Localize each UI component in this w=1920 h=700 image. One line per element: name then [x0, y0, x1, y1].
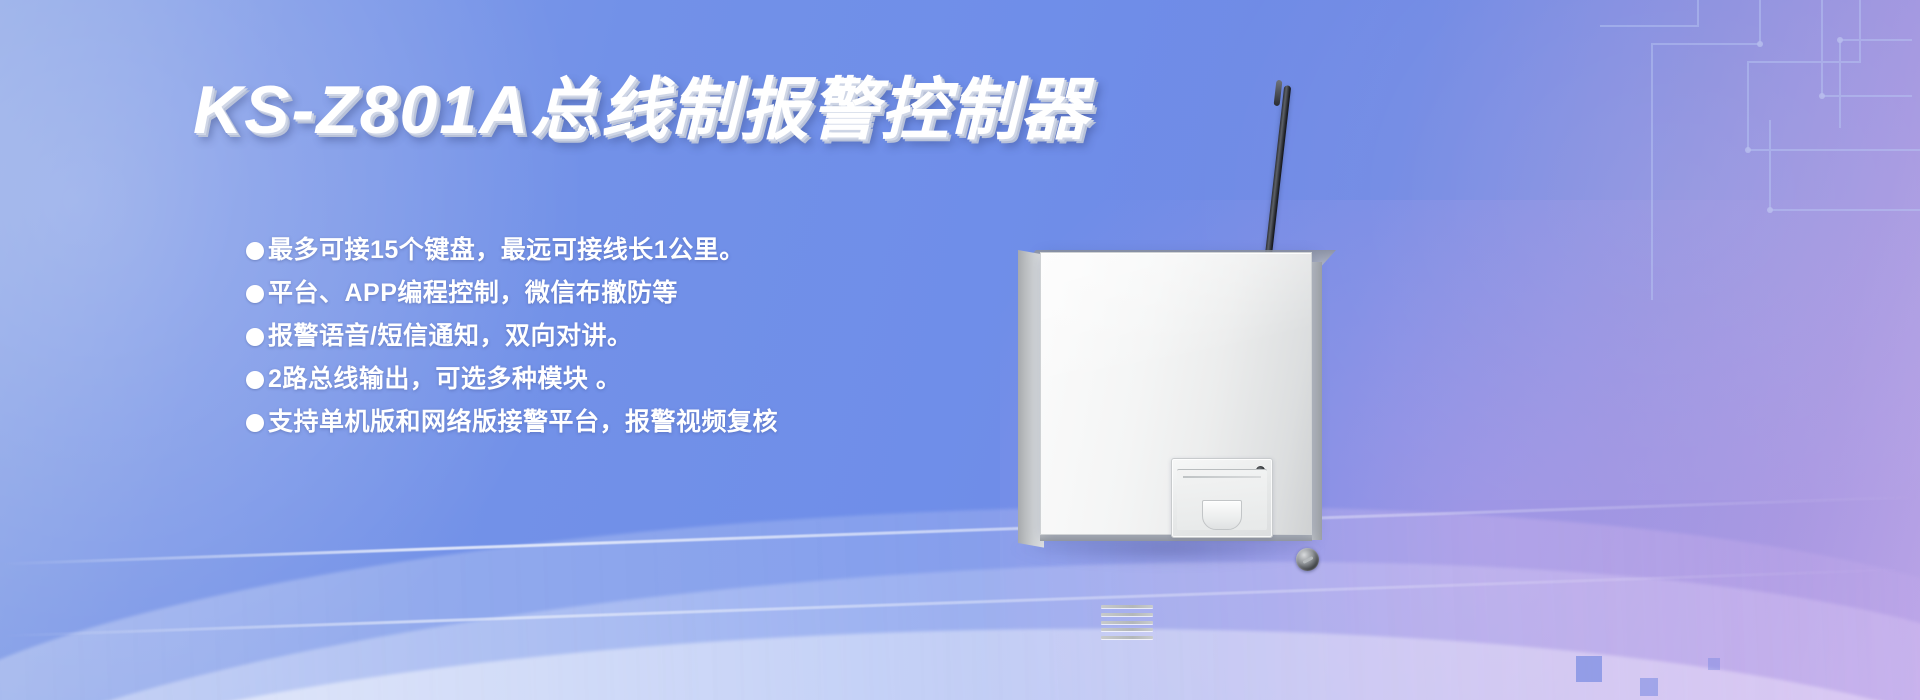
bullet-dot-icon	[246, 242, 264, 260]
bottom-thin-line-1	[1, 495, 1920, 565]
bottom-thin-line-2	[1, 567, 1920, 637]
bullet-dot-icon	[246, 328, 264, 346]
feature-text: 支持单机版和网络版接警平台，报警视频复核	[268, 410, 778, 435]
key-lock-icon	[1296, 548, 1319, 571]
vent-line	[1101, 605, 1153, 608]
list-item: 支持单机版和网络版接警平台，报警视频复核	[246, 410, 1066, 435]
decor-square-2	[1640, 678, 1658, 696]
bullet-dot-icon	[246, 414, 264, 432]
feature-text: 平台、APP编程控制，微信布撤防等	[268, 281, 678, 306]
ventilation-slots	[1101, 605, 1153, 639]
vent-line	[1101, 621, 1153, 624]
enclosure-front-panel	[1040, 252, 1312, 535]
module-inner-panel	[1177, 469, 1267, 530]
feature-list: 最多可接15个键盘，最远可接线长1公里。 平台、APP编程控制，微信布撤防等 报…	[246, 238, 1066, 435]
decor-square-3	[1708, 658, 1720, 670]
bullet-dot-icon	[246, 285, 264, 303]
list-item: 平台、APP编程控制，微信布撤防等	[246, 281, 1066, 306]
enclosure-right-edge	[1312, 262, 1322, 540]
antenna-tip	[1274, 80, 1283, 107]
list-item: 2路总线输出，可选多种模块 。	[246, 367, 1066, 392]
module-slot	[1183, 476, 1261, 478]
feature-text: 最多可接15个键盘，最远可接线长1公里。	[268, 238, 745, 263]
vent-line	[1101, 613, 1153, 616]
decor-square-1	[1576, 656, 1602, 682]
vent-line	[1101, 628, 1153, 631]
bullet-dot-icon	[246, 371, 264, 389]
recessed-handle	[1202, 500, 1242, 530]
keypad-display-module	[1171, 458, 1273, 538]
key-lock-slot	[1302, 556, 1313, 564]
feature-text: 2路总线输出，可选多种模块 。	[268, 367, 621, 392]
product-banner: KS-Z801A总线制报警控制器 最多可接15个键盘，最远可接线长1公里。 平台…	[0, 0, 1920, 700]
feature-text: 报警语音/短信通知，双向对讲。	[268, 324, 632, 349]
product-image	[1000, 80, 1420, 640]
vent-line	[1101, 636, 1153, 639]
list-item: 最多可接15个键盘，最远可接线长1公里。	[246, 238, 1066, 263]
page-title: KS-Z801A总线制报警控制器	[193, 72, 1090, 148]
bottom-ribbon-2	[0, 509, 1920, 700]
bottom-ribbon-1	[0, 470, 1920, 700]
bottom-ribbon-3	[0, 607, 1920, 700]
list-item: 报警语音/短信通知，双向对讲。	[246, 324, 1066, 349]
